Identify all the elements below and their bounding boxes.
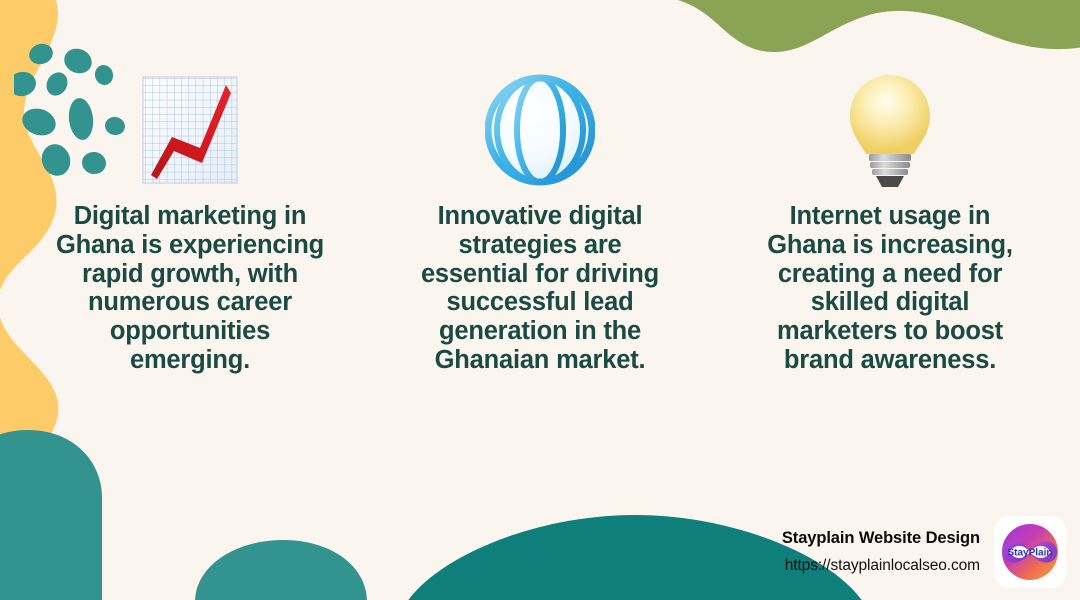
globe-with-meridians-icon: [485, 72, 595, 188]
brand-text-block: Stayplain Website Design https://staypla…: [782, 529, 980, 575]
logo-wordmark: StayPlain: [1007, 548, 1052, 559]
stayplain-logo[interactable]: StayPlain: [994, 516, 1066, 588]
column-digital-marketing-growth: Digital marketing in Ghana is experienci…: [30, 72, 350, 375]
teal-arch-bottom-small: [195, 540, 375, 600]
column-2-text: Innovative digital strategies are essent…: [402, 202, 678, 375]
brand-url[interactable]: https://stayplainlocalseo.com: [785, 557, 980, 575]
green-blob-top-right: [630, 0, 1080, 70]
column-3-text: Internet usage in Ghana is increasing, c…: [751, 202, 1029, 375]
brand-title: Stayplain Website Design: [782, 529, 980, 548]
brand-footer: Stayplain Website Design https://staypla…: [782, 516, 1066, 588]
light-bulb-icon: [844, 72, 936, 188]
infographic-canvas: Digital marketing in Ghana is experienci…: [0, 0, 1080, 600]
teal-arch-bottom-left: [0, 430, 110, 600]
column-internet-usage: Internet usage in Ghana is increasing, c…: [730, 72, 1050, 375]
column-digital-strategies: Innovative digital strategies are essent…: [380, 72, 700, 375]
columns-container: Digital marketing in Ghana is experienci…: [0, 72, 1080, 375]
chart-increasing-icon: [138, 72, 242, 188]
column-1-text: Digital marketing in Ghana is experienci…: [54, 202, 326, 375]
